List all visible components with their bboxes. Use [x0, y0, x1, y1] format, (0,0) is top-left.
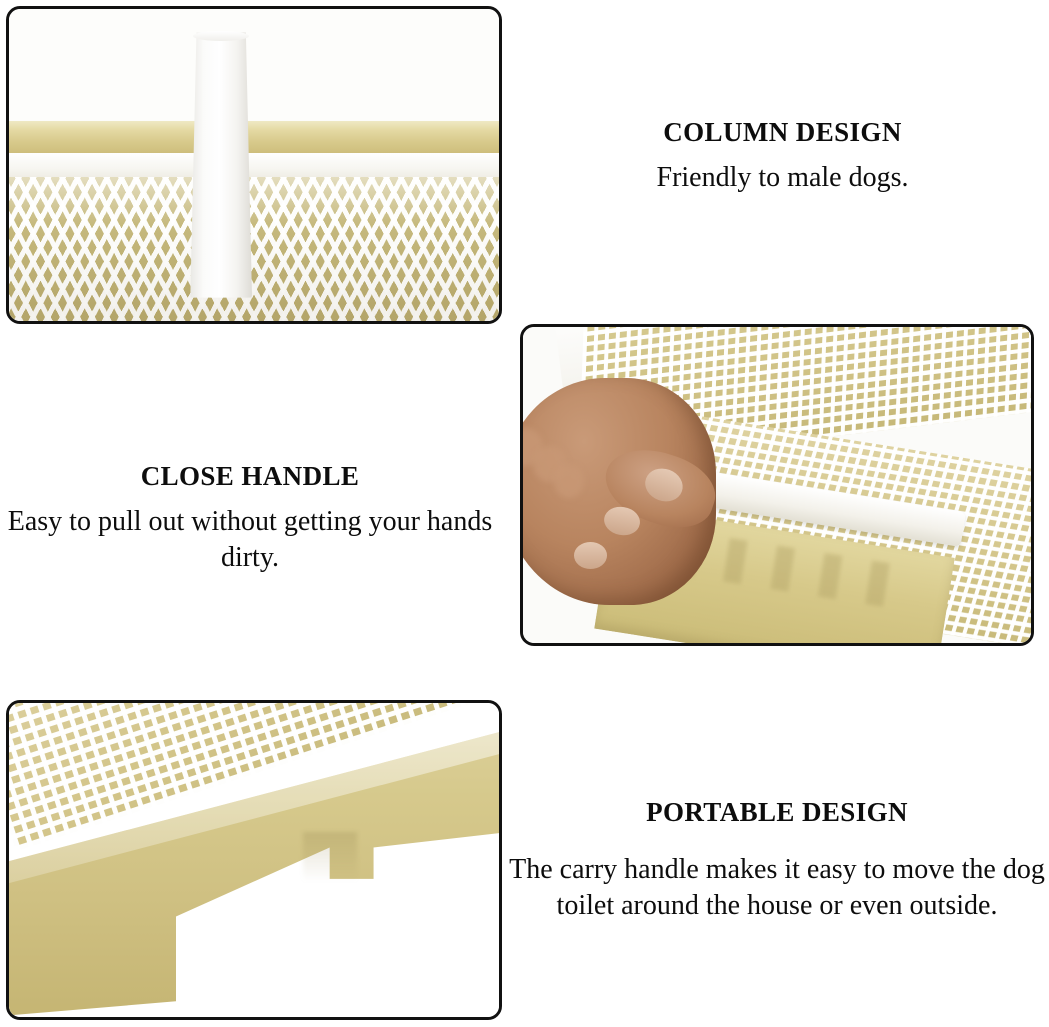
feature-body-portable-design: The carry handle makes it easy to move t… — [505, 852, 1049, 924]
feature-photo-column-design — [6, 6, 502, 324]
knuckle-highlight — [554, 464, 584, 498]
infographic-canvas: COLUMN DESIGN Friendly to male dogs. CLO… — [0, 0, 1049, 1027]
feature-photo-portable-design — [6, 700, 502, 1020]
feature-text-column-design: COLUMN DESIGN Friendly to male dogs. — [540, 118, 1025, 196]
dog-toilet-column-photo — [9, 9, 499, 321]
feature-photo-close-handle — [520, 324, 1034, 646]
feature-heading-portable-design: PORTABLE DESIGN — [505, 798, 1049, 828]
dog-toilet-pull-handle-photo — [523, 327, 1031, 643]
tray-white-lip — [9, 153, 499, 181]
mesh-shading-overlay — [9, 177, 499, 321]
feature-text-portable-design: PORTABLE DESIGN The carry handle makes i… — [505, 798, 1049, 923]
tray-yellow-rim — [9, 121, 499, 154]
feature-body-close-handle: Easy to pull out without getting your ha… — [0, 504, 500, 576]
dog-toilet-carry-handle-photo — [9, 703, 499, 1017]
carry-handle-notch — [303, 832, 357, 882]
feature-body-column-design: Friendly to male dogs. — [540, 160, 1025, 196]
feature-heading-close-handle: CLOSE HANDLE — [0, 462, 500, 492]
pee-post-column-top — [193, 31, 249, 41]
feature-text-close-handle: CLOSE HANDLE Easy to pull out without ge… — [0, 462, 500, 575]
fingernail — [574, 542, 607, 569]
pee-post-column — [190, 32, 252, 297]
feature-heading-column-design: COLUMN DESIGN — [540, 118, 1025, 148]
